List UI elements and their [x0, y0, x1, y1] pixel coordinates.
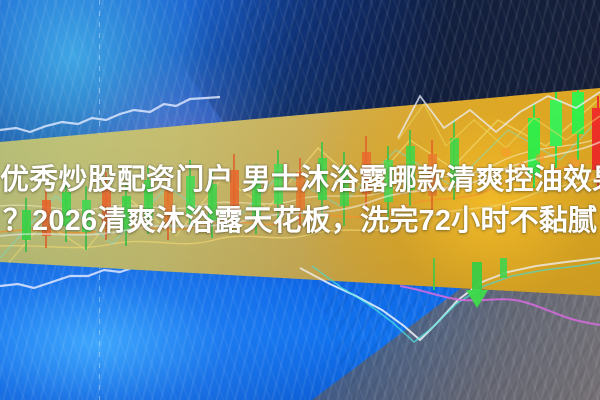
headline: 优秀炒股配资门户 男士沐浴露哪款清爽控油效果好 ？2026清爽沐浴露天花板，洗完… [0, 160, 600, 242]
headline-line-1: 优秀炒股配资门户 男士沐浴露哪款清爽控油效果好 [0, 160, 600, 201]
headline-line-2: ？2026清爽沐浴露天花板，洗完72小时不黏腻 [0, 201, 600, 242]
article-thumbnail-banner: 优秀炒股配资门户 男士沐浴露哪款清爽控油效果好 ？2026清爽沐浴露天花板，洗完… [0, 0, 600, 400]
